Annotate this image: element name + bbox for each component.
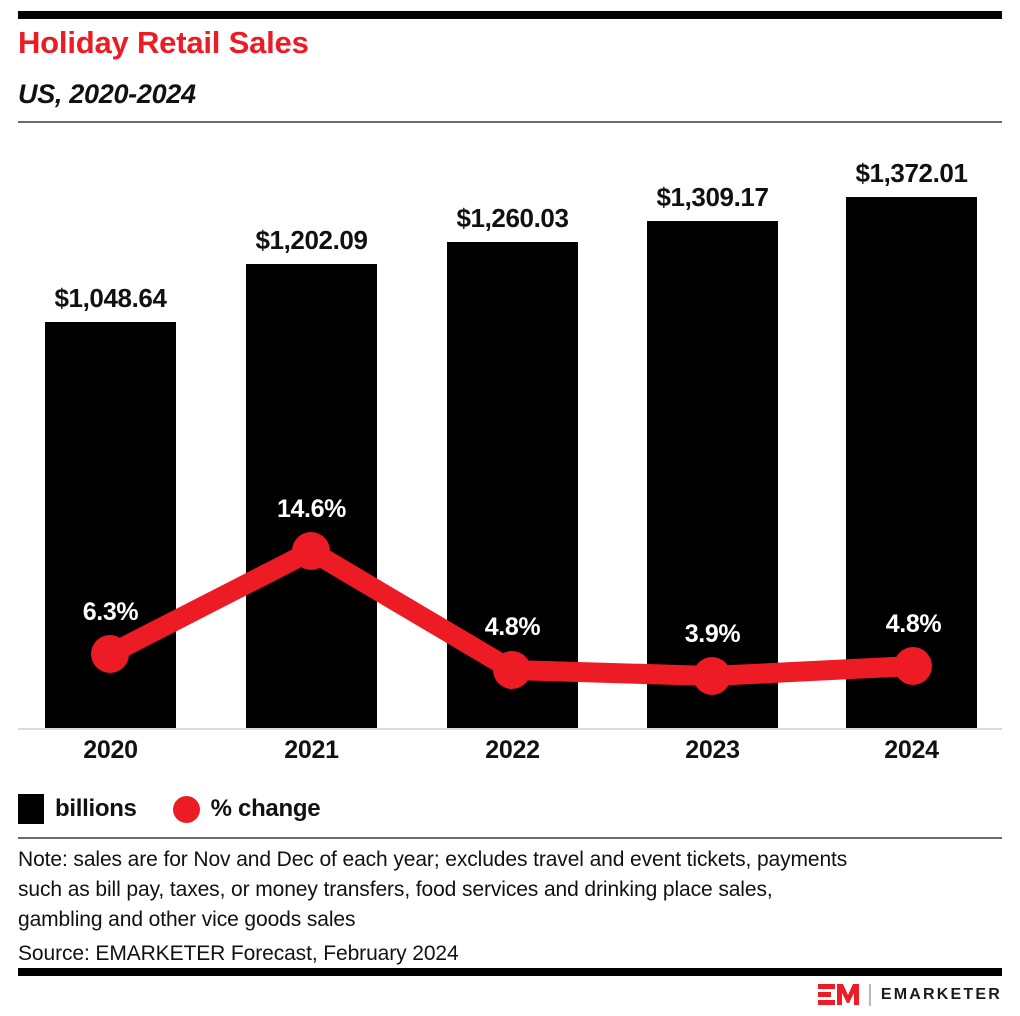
brand-divider bbox=[869, 984, 871, 1006]
emarketer-logo-icon bbox=[818, 982, 860, 1008]
x-tick-2023: 2023 bbox=[637, 736, 788, 765]
chart-card: Holiday Retail Sales US, 2020-2024 $1,04… bbox=[0, 0, 1020, 1016]
x-tick-2020: 2020 bbox=[35, 736, 186, 765]
line-marker-2020 bbox=[91, 635, 129, 673]
x-tick-2022: 2022 bbox=[437, 736, 588, 765]
note-line-2: such as bill pay, taxes, or money transf… bbox=[18, 875, 978, 905]
pct-label-2021: 14.6% bbox=[236, 495, 387, 524]
legend-label-pct-change: % change bbox=[211, 795, 321, 823]
x-axis-line bbox=[18, 728, 1002, 730]
legend-item-pct-change: % change bbox=[173, 795, 321, 823]
pct-label-2023: 3.9% bbox=[637, 620, 788, 649]
x-tick-2021: 2021 bbox=[236, 736, 387, 765]
note-line-3: gambling and other vice goods sales bbox=[18, 905, 978, 935]
legend-square-swatch-icon bbox=[18, 794, 44, 824]
line-marker-2024 bbox=[894, 647, 932, 685]
notes-block: Note: sales are for Nov and Dec of each … bbox=[18, 845, 978, 969]
notes-divider bbox=[18, 837, 1002, 839]
pct-label-2022: 4.8% bbox=[437, 613, 588, 642]
pct-label-2020: 6.3% bbox=[35, 598, 186, 627]
line-marker-2023 bbox=[693, 657, 731, 695]
line-marker-2022 bbox=[493, 651, 531, 689]
percent-change-line bbox=[0, 0, 1020, 760]
legend-label-billions: billions bbox=[55, 795, 137, 823]
pct-label-2024: 4.8% bbox=[838, 610, 989, 639]
legend-item-billions: billions bbox=[18, 794, 137, 824]
chart-legend: billions % change bbox=[18, 793, 356, 825]
source-line: Source: EMARKETER Forecast, February 202… bbox=[18, 939, 978, 969]
line-marker-2021 bbox=[292, 532, 330, 570]
brand-name: EMARKETER bbox=[881, 986, 1002, 1004]
note-line-1: Note: sales are for Nov and Dec of each … bbox=[18, 845, 978, 875]
bottom-rule bbox=[18, 968, 1002, 976]
legend-circle-swatch-icon bbox=[173, 796, 200, 823]
chart-plot-area: $1,048.64 $1,202.09 $1,260.03 $1,309.17 … bbox=[0, 0, 1020, 760]
brand-footer: EMARKETER bbox=[818, 982, 1002, 1008]
x-tick-2024: 2024 bbox=[836, 736, 987, 765]
